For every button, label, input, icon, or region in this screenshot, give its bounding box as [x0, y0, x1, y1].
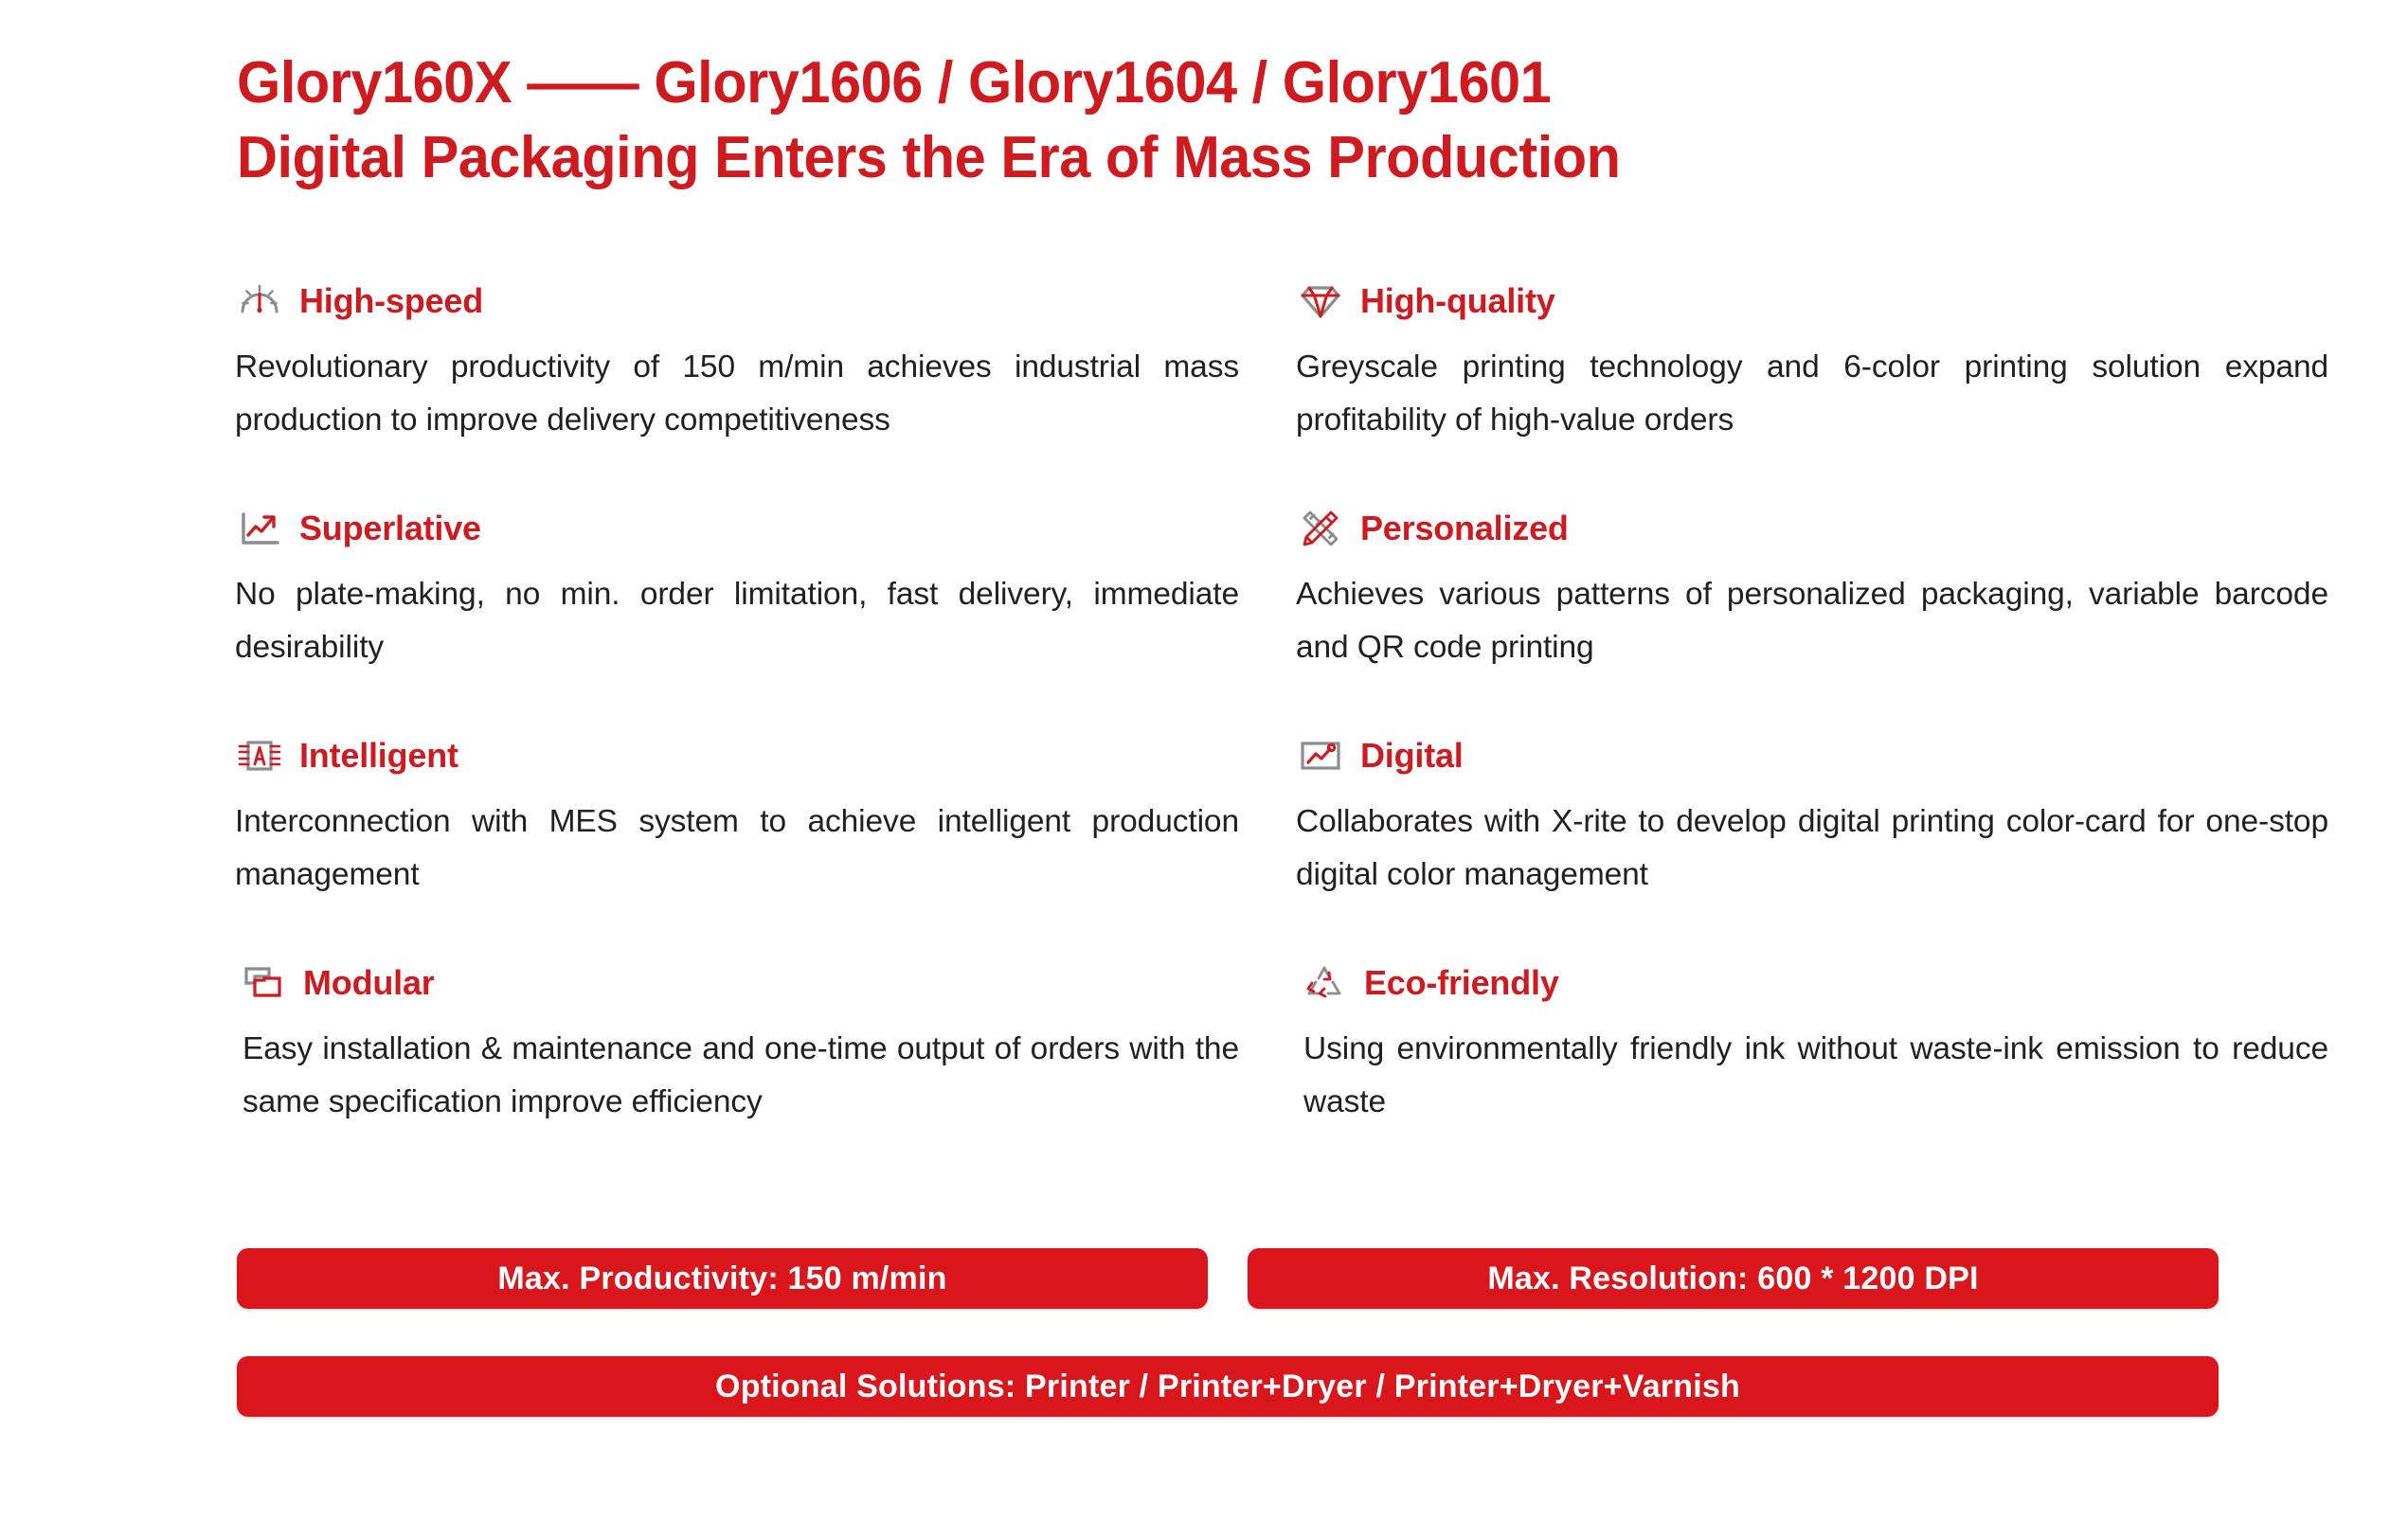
feature-title: Intelligent	[299, 737, 458, 775]
overlapping-squares-icon	[239, 958, 288, 1008]
banner-max-resolution: Max. Resolution: 600 * 1200 DPI	[1248, 1248, 2219, 1309]
title-line-2: Digital Packaging Enters the Era of Mass…	[237, 120, 2147, 195]
trending-up-chart-icon	[235, 504, 284, 553]
feature-header: High-quality	[1296, 275, 2328, 328]
pen-ruler-icon	[1296, 504, 1345, 553]
feature-description: No plate-making, no min. order limitatio…	[235, 568, 1239, 674]
chip-a-icon	[235, 731, 284, 780]
slide-root: Glory160X —— Glory1606 / Glory1604 / Glo…	[0, 0, 2408, 1538]
feature-header: Digital	[1296, 729, 2328, 782]
feature-digital: Digital Collaborates with X-rite to deve…	[1291, 729, 2338, 957]
feature-eco-friendly: Eco-friendly Using environmentally frien…	[1291, 957, 2338, 1184]
speedometer-icon	[235, 277, 284, 326]
spec-banner-row: Max. Productivity: 150 m/min Max. Resolu…	[237, 1248, 2219, 1309]
feature-header: Modular	[235, 957, 1239, 1010]
feature-grid: High-speed Revolutionary productivity of…	[235, 275, 2338, 1184]
feature-title: Modular	[303, 964, 435, 1002]
feature-title: High-quality	[1360, 282, 1555, 320]
feature-description: Revolutionary productivity of 150 m/min …	[235, 341, 1239, 447]
feature-description: Greyscale printing technology and 6-colo…	[1296, 341, 2328, 447]
screen-chart-icon	[1296, 731, 1345, 780]
feature-description: Easy installation & maintenance and one-…	[235, 1023, 1239, 1129]
feature-title: Personalized	[1360, 510, 1569, 547]
feature-header: Superlative	[235, 502, 1239, 555]
feature-title: Digital	[1360, 737, 1464, 775]
feature-title: Eco-friendly	[1364, 964, 1559, 1002]
title-line-1: Glory160X —— Glory1606 / Glory1604 / Glo…	[237, 45, 2147, 120]
feature-modular: Modular Easy installation & maintenance …	[235, 957, 1291, 1184]
banner-max-productivity: Max. Productivity: 150 m/min	[237, 1248, 1208, 1309]
banner-optional-solutions: Optional Solutions: Printer / Printer+Dr…	[237, 1356, 2219, 1417]
feature-title: Superlative	[299, 510, 481, 547]
feature-high-speed: High-speed Revolutionary productivity of…	[235, 275, 1291, 502]
feature-title: High-speed	[299, 282, 483, 320]
feature-header: High-speed	[235, 275, 1239, 328]
feature-description: Collaborates with X-rite to develop digi…	[1296, 796, 2328, 902]
page-title: Glory160X —— Glory1606 / Glory1604 / Glo…	[237, 45, 2226, 195]
feature-personalized: Personalized Achieves various patterns o…	[1291, 502, 2338, 729]
recycle-icon	[1300, 958, 1349, 1008]
feature-description: Interconnection with MES system to achie…	[235, 796, 1239, 902]
feature-high-quality: High-quality Greyscale printing technolo…	[1291, 275, 2338, 502]
feature-description: Using environmentally friendly ink witho…	[1296, 1023, 2328, 1129]
feature-intelligent: Intelligent Interconnection with MES sys…	[235, 729, 1291, 957]
feature-header: Intelligent	[235, 729, 1239, 782]
diamond-icon	[1296, 277, 1345, 326]
feature-description: Achieves various patterns of personalize…	[1296, 568, 2328, 674]
spec-banners: Max. Productivity: 150 m/min Max. Resolu…	[237, 1248, 2219, 1417]
feature-header: Eco-friendly	[1296, 957, 2328, 1010]
feature-header: Personalized	[1296, 502, 2328, 555]
feature-superlative: Superlative No plate-making, no min. ord…	[235, 502, 1291, 729]
